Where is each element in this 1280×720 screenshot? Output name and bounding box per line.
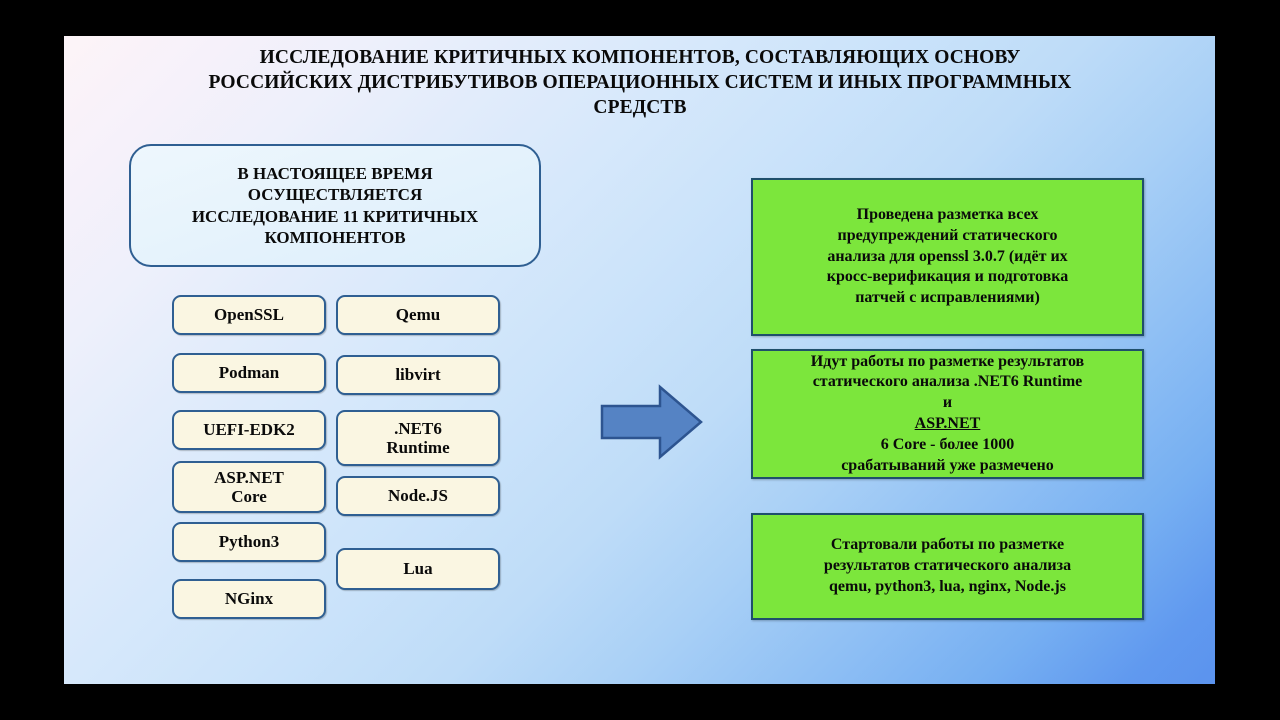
component-chip-label: Node.JS xyxy=(388,486,448,505)
slide-canvas: ИССЛЕДОВАНИЕ КРИТИЧНЫХ КОМПОНЕНТОВ, СОСТ… xyxy=(64,36,1215,684)
result-line: Идут работы по разметке результатов xyxy=(811,352,1084,373)
page-title-line-3: СРЕДСТВ xyxy=(150,96,1130,121)
result-box-text: Идут работы по разметке результатов стат… xyxy=(803,352,1092,477)
component-chip-python3[interactable]: Python3 xyxy=(172,522,326,562)
page-title: ИССЛЕДОВАНИЕ КРИТИЧНЫХ КОМПОНЕНТОВ, СОСТ… xyxy=(150,46,1130,121)
result-line: результатов статического анализа xyxy=(824,556,1071,577)
result-line: предупреждений статического xyxy=(827,226,1068,247)
component-chip-podman[interactable]: Podman xyxy=(172,353,326,393)
result-line: кросс-верификация и подготовка xyxy=(827,267,1068,288)
component-chip-label: Qemu xyxy=(396,305,440,324)
component-chip-libvirt[interactable]: libvirt xyxy=(336,355,500,395)
result-line-with-link: и ASP.NET6 Core - более 1000 xyxy=(811,393,1084,455)
result-box-dotnet: Идут работы по разметке результатов стат… xyxy=(751,349,1144,479)
component-chip-label: Lua xyxy=(403,559,432,578)
status-callout: В НАСТОЯЩЕЕ ВРЕМЯ ОСУЩЕСТВЛЯЕТСЯ ИССЛЕДО… xyxy=(129,144,541,267)
result-line: Стартовали работы по разметке xyxy=(824,535,1071,556)
component-chip-label: Python3 xyxy=(219,532,279,551)
result-line: Проведена разметка всех xyxy=(827,205,1068,226)
component-chip-label: OpenSSL xyxy=(214,305,284,324)
component-chip-label: NGinx xyxy=(225,589,273,608)
component-chip-label: ASP.NETCore xyxy=(214,468,284,506)
slide-stage: ИССЛЕДОВАНИЕ КРИТИЧНЫХ КОМПОНЕНТОВ, СОСТ… xyxy=(0,0,1280,720)
status-callout-line-3: ИССЛЕДОВАНИЕ 11 КРИТИЧНЫХ xyxy=(192,206,478,227)
component-chip-net6-runtime[interactable]: .NET6Runtime xyxy=(336,410,500,466)
result-box-text: Стартовали работы по разметке результато… xyxy=(816,535,1079,597)
right-arrow-icon xyxy=(600,384,704,460)
page-title-line-1: ИССЛЕДОВАНИЕ КРИТИЧНЫХ КОМПОНЕНТОВ, СОСТ… xyxy=(150,46,1130,71)
result-line: статического анализа .NET6 Runtime xyxy=(811,372,1084,393)
status-callout-text: В НАСТОЯЩЕЕ ВРЕМЯ ОСУЩЕСТВЛЯЕТСЯ ИССЛЕДО… xyxy=(192,163,478,249)
result-line: срабатываний уже размечено xyxy=(811,456,1084,477)
result-box-openssl: Проведена разметка всех предупреждений с… xyxy=(751,178,1144,336)
component-chip-label: UEFI-EDK2 xyxy=(203,420,295,439)
component-chip-label: libvirt xyxy=(395,365,440,384)
aspnet-link[interactable]: ASP.NET xyxy=(811,414,1084,435)
result-box-text: Проведена разметка всех предупреждений с… xyxy=(819,205,1076,309)
status-callout-line-2: ОСУЩЕСТВЛЯЕТСЯ xyxy=(192,184,478,205)
status-callout-line-1: В НАСТОЯЩЕЕ ВРЕМЯ xyxy=(192,163,478,184)
component-chip-nginx[interactable]: NGinx xyxy=(172,579,326,619)
component-chip-label: Podman xyxy=(219,363,279,382)
component-chip-uefi-edk2[interactable]: UEFI-EDK2 xyxy=(172,410,326,450)
result-line: патчей с исправлениями) xyxy=(827,288,1068,309)
component-chip-lua[interactable]: Lua xyxy=(336,548,500,590)
component-chip-aspnet-core[interactable]: ASP.NETCore xyxy=(172,461,326,513)
component-chip-nodejs[interactable]: Node.JS xyxy=(336,476,500,516)
page-title-line-2: РОССИЙСКИХ ДИСТРИБУТИВОВ ОПЕРАЦИОННЫХ СИ… xyxy=(150,71,1130,96)
status-callout-line-4: КОМПОНЕНТОВ xyxy=(192,227,478,248)
result-line: qemu, python3, lua, nginx, Node.js xyxy=(824,577,1071,598)
result-line: анализа для openssl 3.0.7 (идёт их xyxy=(827,247,1068,268)
component-chip-label: .NET6Runtime xyxy=(386,419,449,457)
result-box-others: Стартовали работы по разметке результато… xyxy=(751,513,1144,620)
component-chip-openssl[interactable]: OpenSSL xyxy=(172,295,326,335)
component-chip-qemu[interactable]: Qemu xyxy=(336,295,500,335)
